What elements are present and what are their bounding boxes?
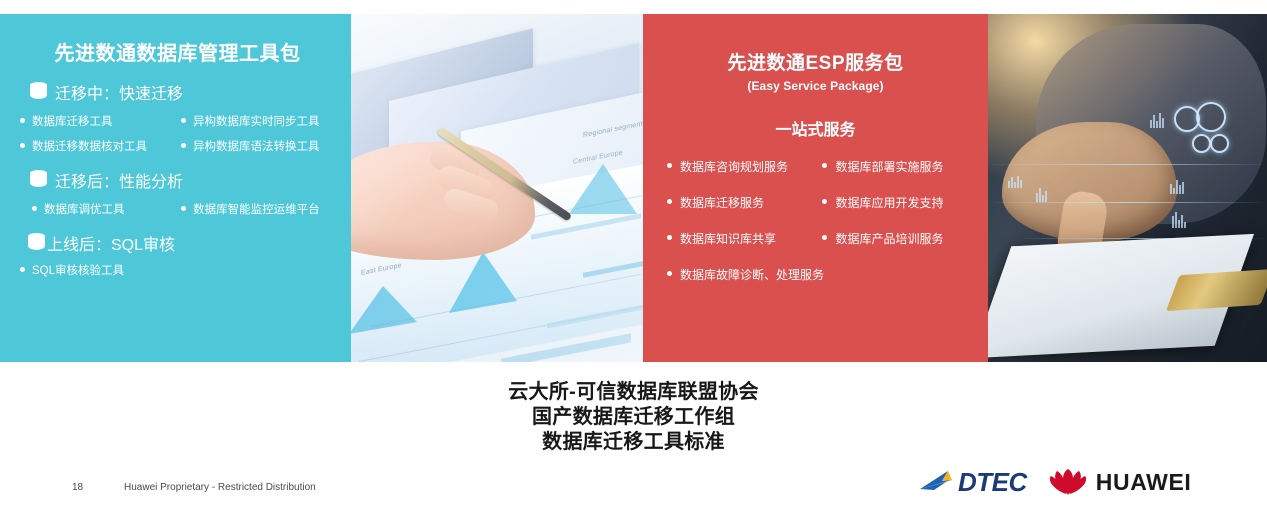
list-item: 数据迁移数据核对工具 — [14, 138, 181, 154]
list-item-label: 数据库部署实施服务 — [835, 158, 943, 175]
list-item-label: 数据库知识库共享 — [680, 230, 776, 247]
panel-right-subtitle: (Easy Service Package) — [655, 79, 976, 93]
section-heading-after-migration: 迁移后：性能分析 — [30, 168, 341, 192]
bullet-row: 数据库调优工具 数据库智能监控运维平台 — [14, 201, 341, 217]
credit-card — [1166, 269, 1267, 311]
panel-right-tagline: 一站式服务 — [655, 116, 976, 140]
mini-bar-chart — [1150, 110, 1165, 128]
bullet-dot-icon — [32, 206, 37, 211]
data-streak — [988, 164, 1267, 165]
bullet-group-after-golive: SQL审核核验工具 — [14, 262, 341, 278]
panel-left-toolkit: 先进数通数据库管理工具包 迁移中：快速迁移 数据库迁移工具 异构数据库实时同步工… — [0, 14, 351, 362]
list-item-label: 异构数据库语法转换工具 — [193, 138, 320, 154]
list-item: 数据库智能监控运维平台 — [181, 201, 341, 217]
list-item-label: 异构数据库实时同步工具 — [193, 113, 320, 129]
headline-line-2: 国产数据库迁移工作组 — [0, 405, 1267, 430]
mini-bar-chart — [1172, 210, 1187, 228]
bullet-row: 数据库故障诊断、处理服务 — [655, 266, 976, 283]
huawei-logo: HUAWEI — [1049, 468, 1192, 496]
panel-right-title: 先进数通ESP服务包 — [655, 48, 976, 75]
list-item-label: 数据库智能监控运维平台 — [193, 201, 320, 217]
dtec-arrow-icon — [918, 469, 960, 495]
list-item-label: 数据库产品培训服务 — [835, 230, 943, 247]
ring-icon — [1210, 134, 1229, 153]
list-item: 异构数据库语法转换工具 — [181, 138, 341, 154]
mini-bar-chart — [1170, 176, 1185, 194]
list-item-label: SQL审核核验工具 — [32, 262, 124, 278]
bullet-row: 数据库迁移工具 异构数据库实时同步工具 — [14, 113, 341, 129]
list-item: SQL审核核验工具 — [14, 262, 186, 278]
bullet-dot-icon — [20, 267, 25, 272]
bullet-dot-icon — [667, 163, 672, 168]
ring-icon — [1192, 134, 1211, 153]
slide-canvas: Regional segments Central Europe West Eu… — [0, 0, 1267, 510]
list-item-label: 数据迁移数据核对工具 — [32, 138, 147, 154]
panel-right-esp: 先进数通ESP服务包 (Easy Service Package) 一站式服务 … — [643, 14, 988, 362]
section-heading-label: 上线后：SQL审核 — [47, 231, 175, 255]
database-icon — [30, 82, 47, 102]
list-item-label: 数据库故障诊断、处理服务 — [680, 266, 824, 283]
list-item: 数据库故障诊断、处理服务 — [655, 266, 976, 283]
headline-line-3: 数据库迁移工具标准 — [0, 430, 1267, 455]
list-item-label: 数据库迁移服务 — [680, 194, 764, 211]
bullet-dot-icon — [822, 199, 827, 204]
list-item: 数据库应用开发支持 — [822, 194, 976, 211]
confidentiality-note: Huawei Proprietary - Restricted Distribu… — [124, 482, 316, 493]
bullet-dot-icon — [181, 206, 186, 211]
bullet-dot-icon — [667, 199, 672, 204]
bullet-dot-icon — [20, 143, 25, 148]
bullet-row: SQL审核核验工具 — [14, 262, 341, 278]
bullet-group-services: 数据库咨询规划服务 数据库部署实施服务 数据库迁移服务 数据库应用开发支持 — [655, 158, 976, 283]
bullet-dot-icon — [20, 118, 25, 123]
bullet-row: 数据库知识库共享 数据库产品培训服务 — [655, 230, 976, 247]
huawei-wordmark: HUAWEI — [1096, 471, 1192, 494]
dtec-logo: DTEC — [918, 469, 1027, 495]
list-item: 数据库迁移服务 — [655, 194, 822, 211]
huawei-flower-icon — [1049, 468, 1087, 496]
bullet-row: 数据库迁移服务 数据库应用开发支持 — [655, 194, 976, 211]
headline-block: 云大所-可信数据库联盟协会 国产数据库迁移工作组 数据库迁移工具标准 — [0, 380, 1267, 455]
mini-bar-chart — [1008, 170, 1023, 188]
list-item: 数据库知识库共享 — [655, 230, 822, 247]
panel-left-title: 先进数通数据库管理工具包 — [14, 37, 341, 66]
bullet-row: 数据库咨询规划服务 数据库部署实施服务 — [655, 158, 976, 175]
photo-right-tablet — [988, 14, 1267, 362]
headline-line-1: 云大所-可信数据库联盟协会 — [0, 380, 1267, 405]
list-item: 数据库咨询规划服务 — [655, 158, 822, 175]
bullet-dot-icon — [667, 235, 672, 240]
banner-strip: Regional segments Central Europe West Eu… — [0, 14, 1267, 362]
page-number: 18 — [72, 482, 83, 493]
data-streak — [988, 202, 1267, 203]
list-item: 数据库产品培训服务 — [822, 230, 976, 247]
section-heading-label: 迁移中：快速迁移 — [55, 80, 183, 104]
bullet-group-after-migration: 数据库调优工具 数据库智能监控运维平台 — [14, 201, 341, 217]
list-item-label: 数据库调优工具 — [44, 201, 125, 217]
database-icon — [28, 233, 45, 253]
photo-gloss-overlay — [351, 14, 643, 362]
list-item-label: 数据库咨询规划服务 — [680, 158, 788, 175]
mini-bar-chart — [1036, 184, 1048, 202]
bullet-dot-icon — [822, 163, 827, 168]
list-item: 数据库迁移工具 — [14, 113, 181, 129]
photo-center-analytics: Regional segments Central Europe West Eu… — [351, 14, 643, 362]
list-item: 异构数据库实时同步工具 — [181, 113, 341, 129]
bullet-dot-icon — [822, 235, 827, 240]
list-item: 数据库调优工具 — [14, 201, 181, 217]
bullet-group-migrating: 数据库迁移工具 异构数据库实时同步工具 数据迁移数据核对工具 异构数据库语法转换… — [14, 113, 341, 154]
section-heading-after-golive: 上线后：SQL审核 — [28, 231, 341, 255]
section-heading-migrating: 迁移中：快速迁移 — [30, 80, 341, 104]
database-icon — [30, 170, 47, 190]
list-item-label: 数据库应用开发支持 — [835, 194, 943, 211]
bullet-dot-icon — [667, 271, 672, 276]
bullet-row: 数据迁移数据核对工具 异构数据库语法转换工具 — [14, 138, 341, 154]
bullet-dot-icon — [181, 143, 186, 148]
logo-group: DTEC HUAWEI — [918, 468, 1191, 496]
dtec-wordmark: DTEC — [958, 469, 1027, 495]
ring-icon — [1196, 102, 1226, 132]
list-item-label: 数据库迁移工具 — [32, 113, 113, 129]
list-item: 数据库部署实施服务 — [822, 158, 976, 175]
section-heading-label: 迁移后：性能分析 — [55, 168, 183, 192]
bullet-dot-icon — [181, 118, 186, 123]
